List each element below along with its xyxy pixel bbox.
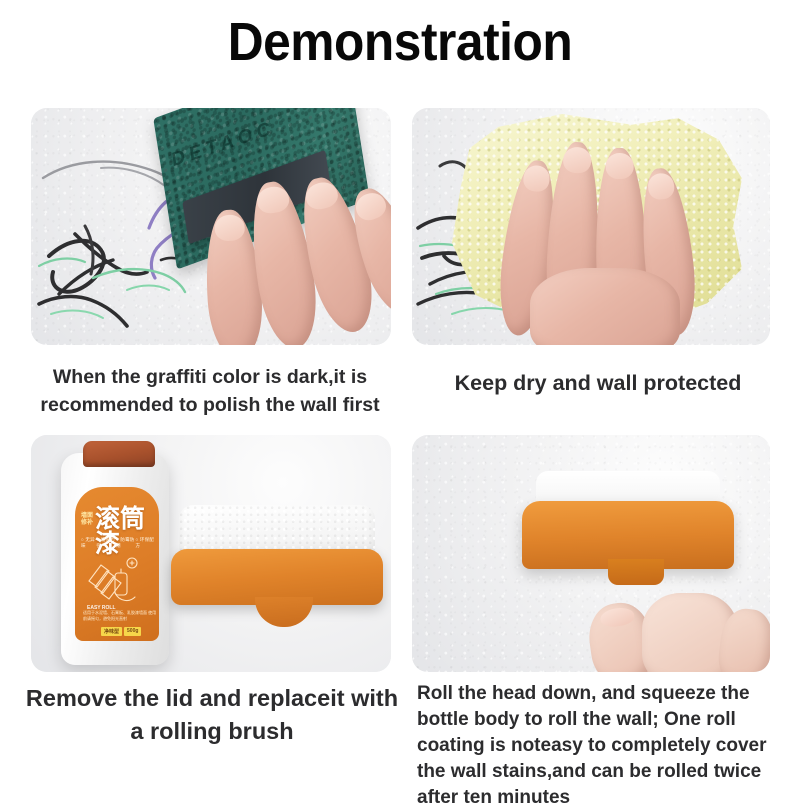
label-brand-text: 墙面修补 — [81, 513, 94, 526]
caption-line: Roll the head down, and squeeze the — [417, 681, 789, 707]
caption-line: the wall stains,and can be rolled twice — [417, 759, 789, 785]
label-illustration-icon: EASY ROLL — [85, 547, 151, 613]
fingernail — [214, 214, 246, 242]
label-tag-weight: 500g — [124, 627, 141, 636]
bottle-label: 墙面修补 滚筒漆 ○ 无异味 ○ 遮盖力强 ○ 防霉防潮 ○ 环保配方 EASY… — [75, 487, 159, 641]
label-tag-type: 净味型 — [101, 627, 122, 636]
panel-wipe-wall — [412, 108, 770, 345]
label-footnote: 适用于水泥墙、石膏板、乳胶漆墙面 使用前请摇匀，避免阳光直射 — [83, 610, 159, 622]
hand — [504, 136, 709, 345]
caption-wipe-wall: Keep dry and wall protected — [412, 368, 784, 399]
panel-replace-lid: 墙面修补 滚筒漆 ○ 无异味 ○ 遮盖力强 ○ 防霉防潮 ○ 环保配方 EASY… — [31, 435, 391, 672]
roller-neck — [255, 597, 313, 627]
fingernail — [605, 153, 633, 179]
page-title: Demonstration — [32, 14, 768, 71]
label-tags: 净味型 500g — [101, 627, 141, 636]
caption-line: coating is noteasy to completely cover — [417, 733, 789, 759]
caption-roll-wall: Roll the head down, and squeeze the bott… — [417, 681, 789, 811]
fingernail — [303, 179, 340, 212]
roller-brush-head — [171, 505, 383, 627]
fingernail — [256, 185, 291, 216]
caption-replace-lid: Remove the lid and replaceit with a roll… — [22, 682, 402, 749]
caption-polish-wall: When the graffiti color is dark,it is re… — [14, 363, 406, 420]
fingernail — [563, 146, 592, 173]
roller-neck — [608, 559, 664, 585]
panel-polish-wall: DETAOC — [31, 108, 391, 345]
roller-brush-head — [522, 471, 734, 591]
hand — [590, 585, 770, 672]
fingernail — [646, 172, 675, 201]
fingernail — [522, 164, 552, 193]
caption-line: after ten minutes — [417, 785, 789, 811]
fingernail — [599, 606, 636, 629]
bottle-lid — [83, 441, 155, 467]
caption-line: bottle body to roll the wall; One roll — [417, 707, 789, 733]
panel-roll-wall — [412, 435, 770, 672]
fingernail — [353, 189, 389, 223]
